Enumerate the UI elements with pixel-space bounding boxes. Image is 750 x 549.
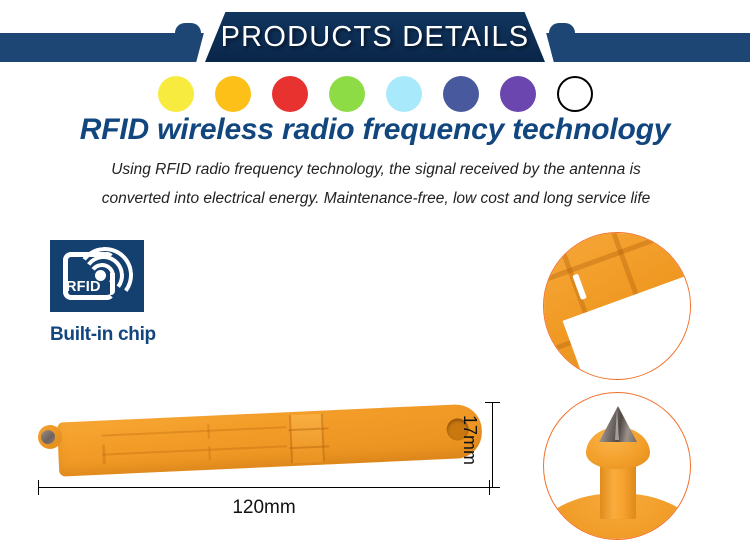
color-swatch-green[interactable] <box>329 76 365 112</box>
dimension-label-height: 17mm <box>459 415 480 465</box>
tag-rib <box>102 426 287 436</box>
section-description: Using RFID radio frequency technology, t… <box>96 155 656 213</box>
rfid-icon-label: RFID <box>66 279 101 295</box>
surface-rib <box>543 232 672 287</box>
banner-wing-right <box>520 33 750 62</box>
tag-rib <box>207 424 210 439</box>
page-title: PRODUCTS DETAILS <box>221 21 530 54</box>
color-swatch-amber[interactable] <box>215 76 251 112</box>
tag-rib <box>102 444 106 464</box>
tag-hinge-section <box>289 414 325 463</box>
section-headline: RFID wireless radio frequency technology <box>0 113 750 147</box>
dimension-line-height <box>492 402 493 488</box>
color-swatch-yellow[interactable] <box>158 76 194 112</box>
detail-photo-tag-surface <box>543 232 691 380</box>
color-swatch-navy-blue[interactable] <box>443 76 479 112</box>
product-details-page: PRODUCTS DETAILS RFID wireless radio fre… <box>0 0 750 549</box>
banner-plate: PRODUCTS DETAILS <box>205 12 545 62</box>
color-swatch-row <box>0 74 750 114</box>
builtin-chip-feature: RFID Built-in chip <box>50 240 210 346</box>
color-swatch-white[interactable] <box>557 76 593 112</box>
color-swatch-purple[interactable] <box>500 76 536 112</box>
product-photo-ear-tag <box>38 395 488 487</box>
banner-wing-left <box>0 33 230 62</box>
rfid-icon: RFID <box>50 240 144 312</box>
header-banner: PRODUCTS DETAILS <box>0 0 750 70</box>
tag-rib <box>102 445 287 455</box>
detail-photo-metal-pin <box>543 392 691 540</box>
ear-tag-strip-body <box>57 403 483 476</box>
dimension-label-length: 120mm <box>38 497 490 519</box>
dimension-line-length <box>38 487 490 488</box>
color-swatch-red[interactable] <box>272 76 308 112</box>
builtin-chip-caption: Built-in chip <box>50 324 210 346</box>
color-swatch-light-blue[interactable] <box>386 76 422 112</box>
